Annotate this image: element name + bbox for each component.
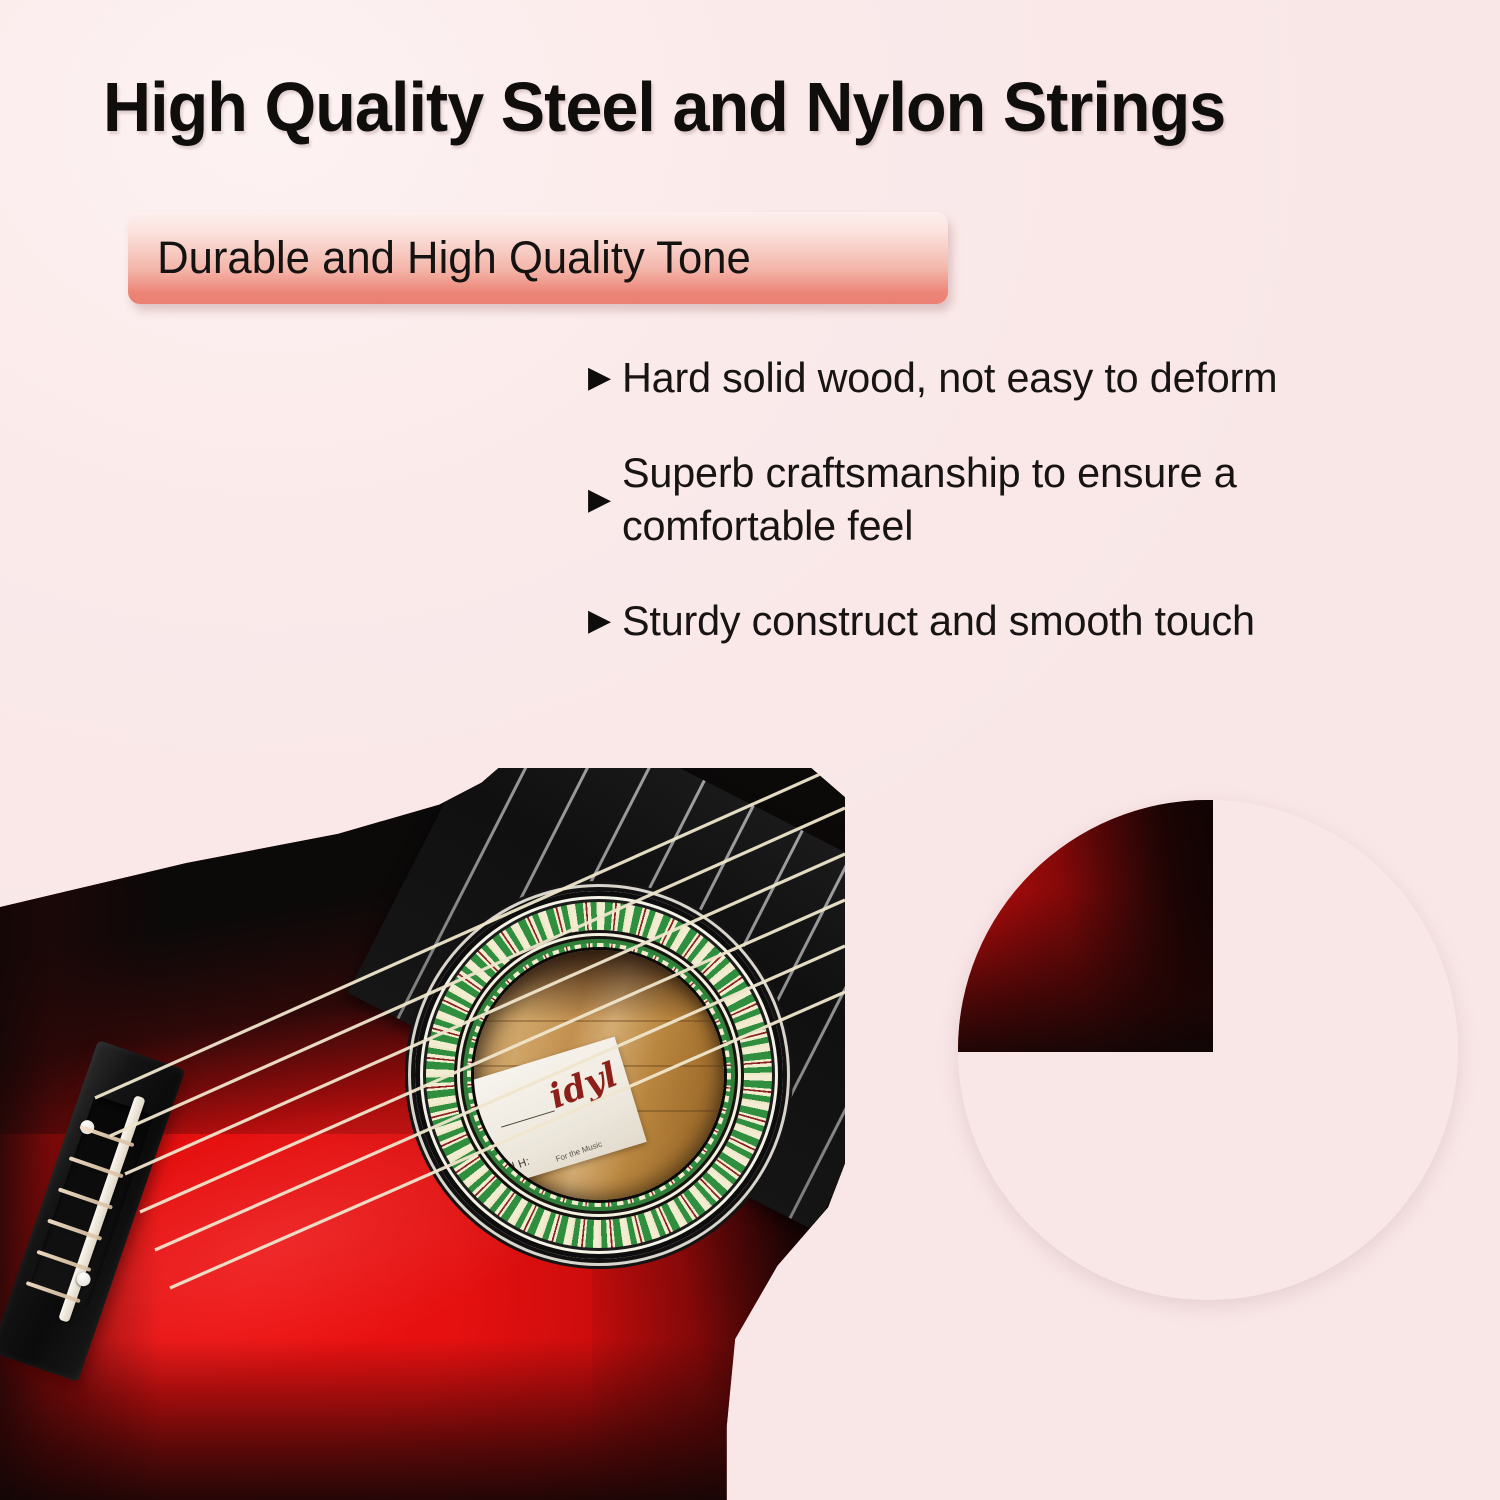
- label-rule: [501, 1110, 555, 1128]
- product-photo-main: idyl Mod H: For the Music: [0, 768, 845, 1500]
- label-model-line: Mod H:: [492, 1156, 531, 1179]
- list-item: ▶ Sturdy construct and smooth touch: [588, 595, 1478, 648]
- feature-text: Hard solid wood, not easy to deform: [622, 352, 1277, 405]
- label-tagline: For the Music: [554, 1139, 603, 1163]
- guitar-fret: [789, 905, 845, 1219]
- triangle-right-icon: ▶: [588, 485, 622, 515]
- soundhole-closeup-inset: idyl Mod H: For the Music: [958, 800, 1458, 1300]
- guitar-interior-label: idyl Mod H: For the Music: [474, 1037, 647, 1191]
- inset-photo-content: idyl Mod H: For the Music: [958, 800, 1213, 1052]
- soundhole-opening: idyl Mod H: For the Music: [474, 950, 724, 1200]
- list-item: ▶ Superb craftsmanship to ensure a comfo…: [588, 447, 1478, 553]
- feature-text: Sturdy construct and smooth touch: [622, 595, 1255, 648]
- triangle-right-icon: ▶: [588, 606, 622, 636]
- subtitle-badge: Durable and High Quality Tone: [128, 212, 948, 304]
- page-title: High Quality Steel and Nylon Strings: [103, 72, 1405, 142]
- feature-text: Superb craftsmanship to ensure a comfort…: [622, 447, 1410, 553]
- list-item: ▶ Hard solid wood, not easy to deform: [588, 352, 1478, 405]
- subtitle-badge-label: Durable and High Quality Tone: [128, 232, 751, 284]
- triangle-right-icon: ▶: [588, 363, 622, 393]
- brand-logo: idyl: [543, 1054, 622, 1116]
- feature-list: ▶ Hard solid wood, not easy to deform ▶ …: [588, 352, 1478, 690]
- soundhole-shadow: [474, 950, 724, 1020]
- guitar-soundhole: idyl Mod H: For the Music: [415, 891, 783, 1259]
